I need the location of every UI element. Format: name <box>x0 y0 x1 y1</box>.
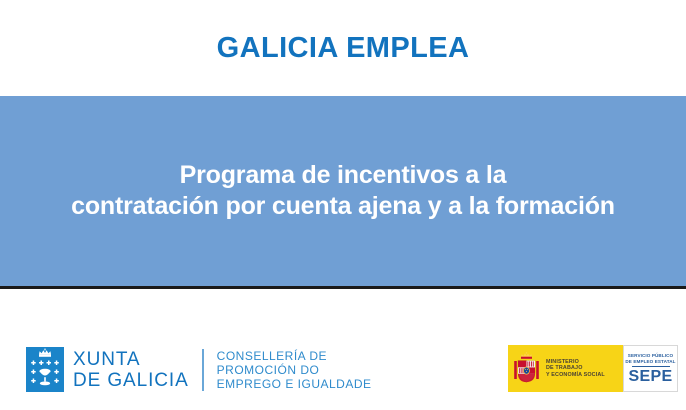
sepe-subtitle-line-2: DE EMPLEO ESTATAL <box>625 359 675 365</box>
ministerio-line-3: Y ECONOMÍA SOCIAL <box>546 372 605 379</box>
spain-coat-of-arms-icon <box>513 352 540 386</box>
xunta-de-galicia-logo: XUNTA DE GALICIA CONSELLERÍA DE PROMOCIÓ… <box>26 347 372 392</box>
ministerio-text: MINISTERIO DE TRABAJO Y ECONOMÍA SOCIAL <box>546 359 605 379</box>
conselleria-line-3: EMPREGO E IGUALDADE <box>217 377 372 391</box>
ministerio-line-1: MINISTERIO <box>546 359 605 366</box>
sepe-subtitle-line-1: SERVICIO PÚBLICO <box>625 353 675 359</box>
xunta-wordmark: XUNTA DE GALICIA <box>73 349 189 391</box>
page-title: GALICIA EMPLEA <box>217 34 470 63</box>
xunta-wordmark-line-2: DE GALICIA <box>73 370 189 391</box>
conselleria-line-2: PROMOCIÓN DO <box>217 363 372 377</box>
xunta-wordmark-line-1: XUNTA <box>73 349 189 370</box>
program-banner: Programa de incentivos a la contratación… <box>0 96 686 286</box>
conselleria-text: CONSELLERÍA DE PROMOCIÓN DO EMPREGO E IG… <box>217 349 372 391</box>
page-header: GALICIA EMPLEA <box>0 0 686 96</box>
ministerio-logo: MINISTERIO DE TRABAJO Y ECONOMÍA SOCIAL <box>508 345 623 392</box>
ministerio-line-2: DE TRABAJO <box>546 365 605 372</box>
banner-line-1: Programa de incentivos a la <box>180 160 507 191</box>
sepe-acronym: SEPE <box>629 368 673 385</box>
government-logos: MINISTERIO DE TRABAJO Y ECONOMÍA SOCIAL … <box>508 345 678 392</box>
sepe-divider <box>632 366 670 367</box>
conselleria-line-1: CONSELLERÍA DE <box>217 349 372 363</box>
logo-divider <box>202 349 204 391</box>
banner-line-2: contratación por cuenta ajena y a la for… <box>71 191 615 222</box>
sepe-logo: SERVICIO PÚBLICO DE EMPLEO ESTATAL SEPE <box>623 345 678 392</box>
sepe-subtitle: SERVICIO PÚBLICO DE EMPLEO ESTATAL <box>625 353 675 364</box>
xunta-emblem-icon <box>26 347 64 392</box>
page-footer: XUNTA DE GALICIA CONSELLERÍA DE PROMOCIÓ… <box>0 289 686 410</box>
